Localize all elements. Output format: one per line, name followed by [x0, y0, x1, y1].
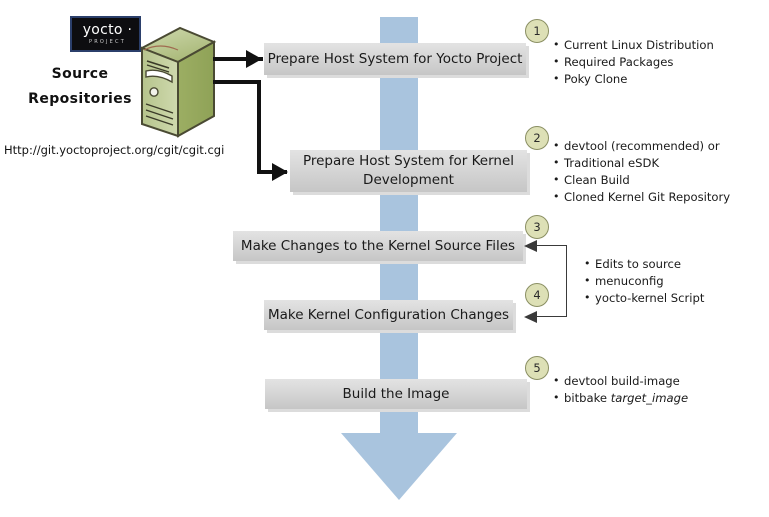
- bullet-list-steps-3-4: Edits to source menuconfig yocto-kernel …: [584, 256, 704, 307]
- list-item: Poky Clone: [553, 71, 714, 88]
- step-marker-3: 3: [525, 215, 549, 239]
- logo-subtitle: PROJECT: [72, 39, 143, 45]
- process-box-step2[interactable]: Prepare Host System for Kernel Developme…: [290, 150, 527, 192]
- feedback-line-bottom: [536, 316, 567, 317]
- list-item: menuconfig: [584, 273, 704, 290]
- list-item: yocto-kernel Script: [584, 290, 704, 307]
- list-item: Clean Build: [553, 172, 730, 189]
- logo-wordmark: yocto ·: [72, 22, 143, 38]
- flow-arrow-head: [341, 433, 457, 500]
- step-marker-4: 4: [525, 283, 549, 307]
- process-box-step5[interactable]: Build the Image: [265, 379, 527, 409]
- process-box-step3[interactable]: Make Changes to the Kernel Source Files: [233, 231, 523, 261]
- source-repositories-label: Source Repositories: [10, 62, 150, 112]
- list-item: devtool build-image: [553, 373, 688, 390]
- list-item: Edits to source: [584, 256, 704, 273]
- source-label-line2: Repositories: [10, 87, 150, 112]
- bitbake-command: bitbake: [564, 391, 611, 405]
- process-box-step1[interactable]: Prepare Host System for Yocto Project: [264, 43, 526, 75]
- feedback-line-vertical: [566, 245, 567, 317]
- step-marker-5: 5: [525, 356, 549, 380]
- connector-server-to-step2-top: [213, 80, 261, 84]
- source-label-line1: Source: [10, 62, 150, 87]
- list-item: devtool (recommended) or: [553, 138, 730, 155]
- connector-server-to-step2-vertical: [257, 80, 261, 174]
- arrowhead-to-step4: [524, 311, 537, 323]
- feedback-line-top: [536, 245, 567, 246]
- bullet-list-step1: Current Linux Distribution Required Pack…: [553, 37, 714, 88]
- bullet-list-step2: devtool (recommended) or Traditional eSD…: [553, 138, 730, 206]
- list-item: Cloned Kernel Git Repository: [553, 189, 730, 206]
- list-item: bitbake target_image: [553, 390, 688, 407]
- list-item: Current Linux Distribution: [553, 37, 714, 54]
- arrowhead-to-step3: [524, 240, 537, 252]
- step-marker-1: 1: [525, 19, 549, 43]
- list-item: Required Packages: [553, 54, 714, 71]
- list-item-continuation: Traditional eSDK: [553, 155, 730, 172]
- flow-arrow-shaft: [380, 17, 418, 437]
- bullet-list-step5: devtool build-image bitbake target_image: [553, 373, 688, 407]
- bitbake-target-arg: target_image: [611, 391, 688, 405]
- arrowhead-to-step1: [246, 50, 262, 68]
- source-repository-url: Http://git.yoctoproject.org/cgit/cgit.cg…: [4, 143, 234, 157]
- step-marker-2: 2: [525, 126, 549, 150]
- server-tower-icon: [138, 24, 218, 140]
- arrowhead-to-step2: [272, 163, 288, 181]
- diagram-canvas: yocto · PROJECT Source Repositories Http…: [0, 0, 769, 517]
- process-box-step4[interactable]: Make Kernel Configuration Changes: [264, 300, 513, 330]
- yocto-project-logo: yocto · PROJECT: [70, 16, 141, 52]
